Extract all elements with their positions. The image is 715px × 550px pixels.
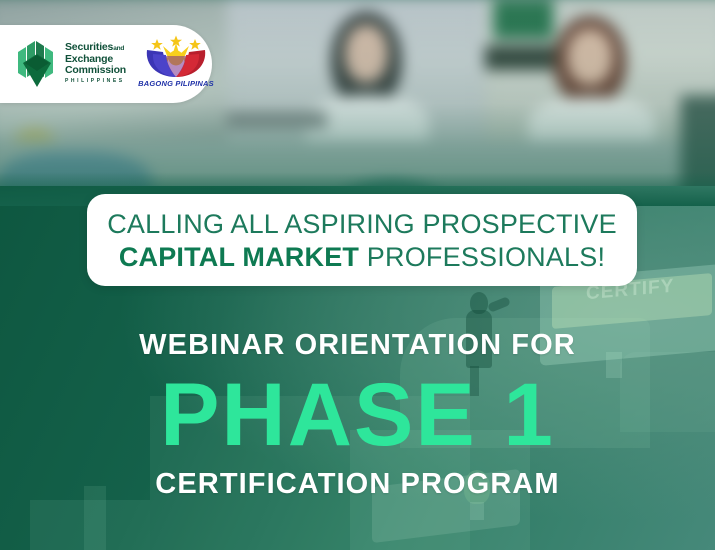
sec-logo: Securitiesand Exchange Commission PHILIP… (14, 38, 126, 90)
title-subline: CERTIFICATION PROGRAM (0, 467, 715, 501)
bagong-pilipinas-logo: BAGONG PILIPINAS (138, 34, 214, 94)
sec-line1-small: and (113, 45, 124, 52)
banner-line-2-bold: CAPITAL MARKET (119, 242, 359, 272)
illustration-plant-pot (470, 502, 484, 520)
sec-line1: Securities (65, 41, 113, 53)
title-headline: PHASE 1 (0, 366, 715, 462)
sec-line3: Commission (65, 64, 126, 76)
title-kicker: WEBINAR ORIENTATION FOR (0, 328, 715, 362)
poster-canvas: CERTIFY Securitiesand Exchange (0, 0, 715, 550)
sec-logo-text: Securitiesand Exchange Commission PHILIP… (65, 42, 126, 87)
bagong-pilipinas-label: BAGONG PILIPINAS (138, 79, 214, 88)
illustration-person-arm (487, 296, 511, 313)
banner-line-2-rest: PROFESSIONALS! (359, 242, 605, 272)
headline-banner: CALLING ALL ASPIRING PROSPECTIVE CAPITAL… (87, 194, 637, 286)
logo-bar: Securitiesand Exchange Commission PHILIP… (0, 25, 212, 103)
banner-line-2: CAPITAL MARKET PROFESSIONALS! (119, 241, 605, 273)
banner-line-1: CALLING ALL ASPIRING PROSPECTIVE (107, 208, 617, 240)
sec-diamond-logo-icon (14, 38, 60, 90)
bagong-pilipinas-sun-logo-icon (141, 34, 211, 80)
title-block: WEBINAR ORIENTATION FOR PHASE 1 CERTIFIC… (0, 328, 715, 501)
sec-line4: PHILIPPINES (65, 76, 126, 87)
